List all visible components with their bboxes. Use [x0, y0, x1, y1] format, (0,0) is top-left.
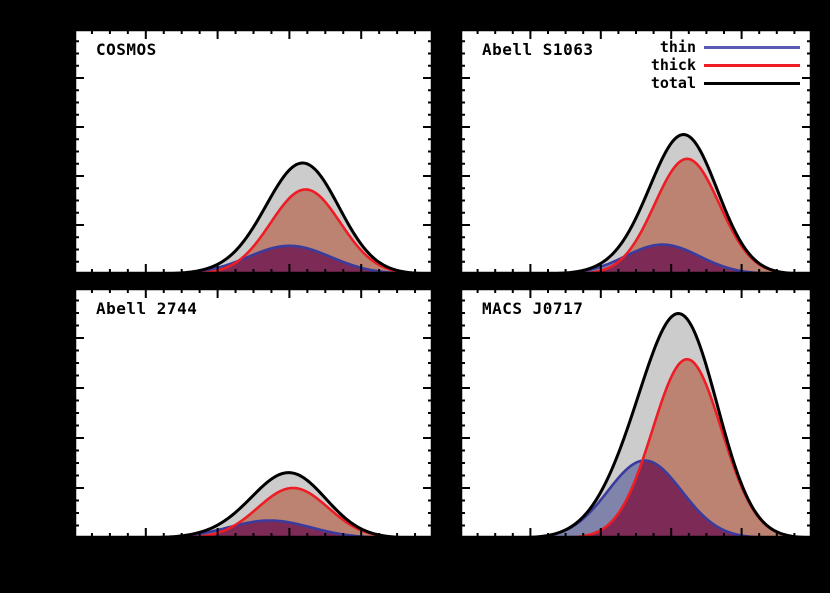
legend: thinthicktotal — [620, 38, 800, 92]
panel-title-4: MACS J0717 — [482, 299, 583, 318]
panel-macs-j0717 — [460, 288, 812, 538]
panel-title-2: Abell S1063 — [482, 40, 593, 59]
legend-swatch-thin — [704, 46, 800, 49]
plot-area — [74, 288, 433, 538]
legend-label-thick: thick — [651, 56, 696, 74]
plot-area — [460, 288, 812, 538]
legend-swatch-total — [704, 82, 800, 85]
panel-abell-2744 — [74, 288, 433, 538]
legend-swatch-thick — [704, 64, 800, 67]
legend-item-thin: thin — [620, 38, 800, 56]
legend-item-thick: thick — [620, 56, 800, 74]
legend-label-thin: thin — [660, 38, 696, 56]
legend-label-total: total — [651, 74, 696, 92]
panel-title-1: COSMOS — [96, 40, 157, 59]
plot-area — [74, 29, 433, 274]
figure-canvas: COSMOSAbell S1063Abell 2744MACS J0717thi… — [0, 0, 830, 593]
panel-title-3: Abell 2744 — [96, 299, 197, 318]
panel-cosmos — [74, 29, 433, 274]
legend-item-total: total — [620, 74, 800, 92]
